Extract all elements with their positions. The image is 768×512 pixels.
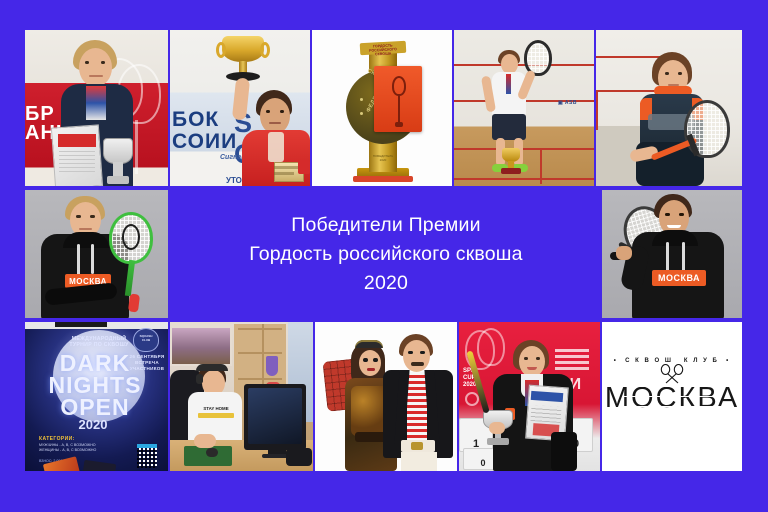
tile-player-court: ▣ ASB — [454, 30, 594, 186]
tile-boy-diploma: БРАНК — [25, 30, 168, 186]
tile-man-gold-cup: БОК СОИИ S QUAS Сигнарита УТО SA — [170, 30, 310, 186]
banner-text-boc: БОК — [172, 108, 219, 132]
tile-man-moscow-hoodie: МОСКВА — [602, 190, 742, 318]
tile-gamer-desk: STAY HOME — [170, 322, 313, 471]
tile-man-green-racket: МОСКВА — [25, 190, 168, 318]
tile-poster-dark-nights: SQUASHCLUB 26 СЕНТЯБРЯВСТРЕЧАУЧАСТНИКОВ … — [25, 322, 168, 471]
trophy-top-inscription: ГОРДОСТЬРОССИЙСКОГО СКВОША — [362, 43, 405, 57]
caption-line-2: Гордость российского сквоша — [249, 240, 522, 269]
collage-canvas: БРАНК БОК СОИИ S QUAS Сигнарита УТО SA — [0, 0, 768, 512]
poster-qr-code — [137, 448, 157, 468]
hoodie-badge: МОСКВА — [652, 270, 706, 286]
tile-costume-duo — [315, 322, 457, 471]
caption-line-1: Победители Премии — [291, 211, 480, 240]
tile-girl-racket — [596, 30, 742, 186]
tile-trophy-statue: ГОРДОСТЬРОССИЙСКОГО СКВОША ФЕДЕРАЦИЯ СКВ… — [312, 30, 452, 186]
poster-categories-women: ЖЕНЩИНЫ - A, B, C ВОЗМОЖНО — [39, 448, 96, 453]
poster-supertitle: МЕЖДУНАРОДНЫЙТУРНИР ПО СКВОШУ — [47, 336, 151, 348]
tile-club-logo: • С К В О Ш К Л У Б • МОСКВА — [602, 322, 742, 471]
court-brand-asb: ▣ ASB — [558, 100, 577, 106]
award-caption: Победители Премии Гордость российского с… — [172, 188, 600, 320]
crossed-rackets-icon — [658, 364, 686, 384]
caption-line-3: 2020 — [364, 269, 408, 298]
tile-girl-trophy: SPBCUP2020 ЕИ 1 0 0 0 — [459, 322, 600, 471]
banner-text-coii: СОИИ — [172, 130, 237, 154]
poster-categories-label: КАТЕГОРИИ: — [39, 436, 75, 442]
poster-year: 2020 — [43, 417, 143, 432]
tshirt-text: STAY HOME — [196, 406, 236, 411]
